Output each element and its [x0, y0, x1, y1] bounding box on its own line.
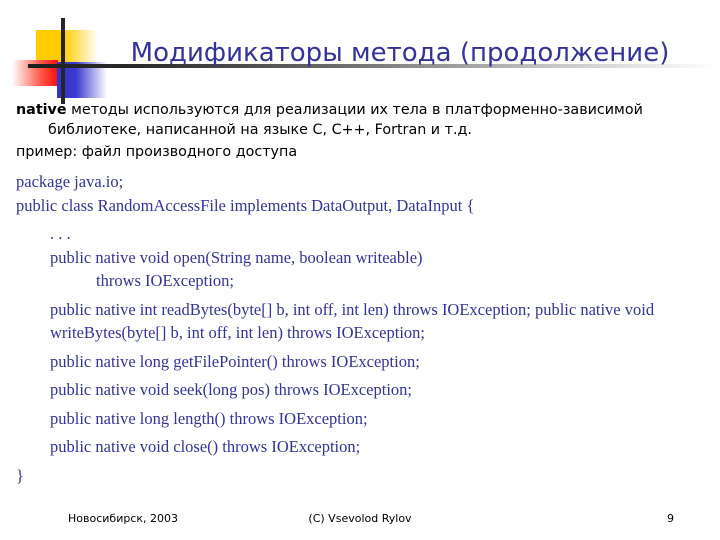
footer-copyright: (C) Vsevolod Rylov [0, 512, 720, 525]
code-line-open: public native void open(String name, boo… [50, 246, 704, 270]
footer-page-number: 9 [667, 512, 674, 525]
body-paragraph-example: пример: файл производного доступа [16, 142, 704, 162]
keyword-native: native [16, 102, 67, 118]
body-paragraph-native: native методы используются для реализаци… [16, 100, 704, 140]
slide-body: native методы используются для реализаци… [16, 100, 704, 487]
code-line-package: package java.io; [16, 170, 704, 194]
code-line-readbytes-writebytes: public native int readBytes(byte[] b, in… [50, 298, 704, 345]
body-paragraph-native-text: методы используются для реализации их те… [48, 102, 643, 138]
slide-canvas: Модификаторы метода (продолжение) native… [0, 0, 720, 540]
code-line-class-decl: public class RandomAccessFile implements… [16, 194, 704, 218]
code-line-ellipsis: . . . [50, 222, 704, 246]
code-line-open-throws: throws IOException; [96, 269, 704, 293]
code-line-length: public native long length() throws IOExc… [50, 407, 704, 431]
code-line-seek: public native void seek(long pos) throws… [50, 378, 704, 402]
logo-vertical-rule [61, 18, 65, 104]
code-line-closing-brace: } [16, 464, 704, 488]
logo-yellow-square [36, 30, 98, 63]
code-listing: package java.io; public class RandomAcce… [16, 170, 704, 487]
slide-footer: Новосибирск, 2003 (C) Vsevolod Rylov 9 [0, 508, 720, 540]
slide-title: Модификаторы метода (продолжение) [100, 38, 700, 68]
code-line-getfilepointer: public native long getFilePointer() thro… [50, 350, 704, 374]
code-line-close: public native void close() throws IOExce… [50, 435, 704, 459]
